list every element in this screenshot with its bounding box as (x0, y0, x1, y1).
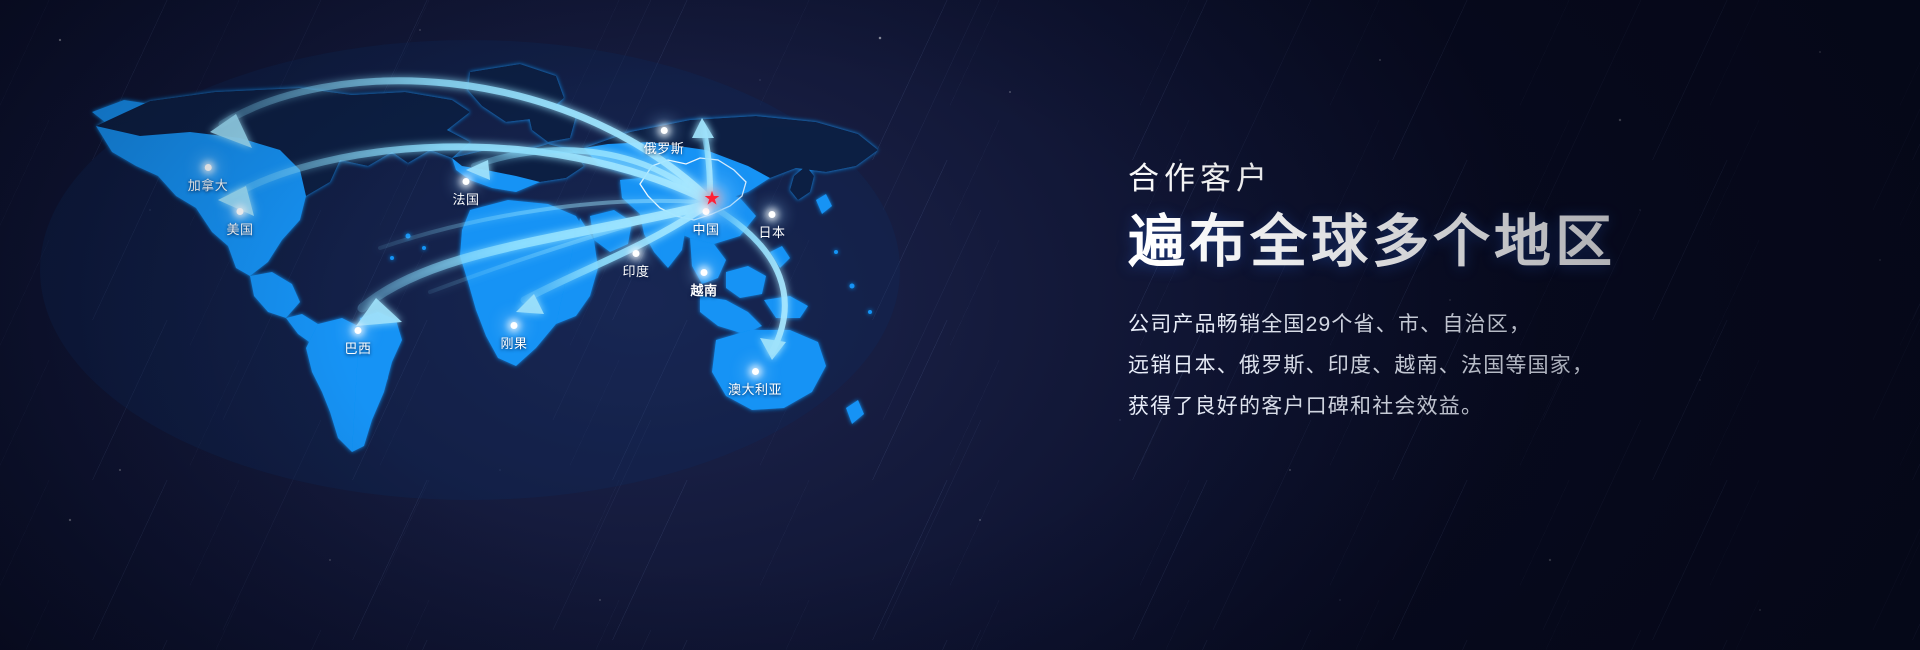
page-title: 遍布全球多个地区 (1128, 211, 1748, 275)
sub-title: 合作客户 (1128, 160, 1748, 197)
description-block: 公司产品畅销全国29个省、市、自治区， 远销日本、俄罗斯、印度、越南、法国等国家… (1128, 305, 1748, 428)
copy-block: 合作客户 遍布全球多个地区 公司产品畅销全国29个省、市、自治区， 远销日本、俄… (1128, 160, 1748, 428)
global-clients-banner: 加拿大 美国 巴西 法国 俄罗斯 中国 日本 印度 (0, 0, 1920, 650)
description-line-2: 远销日本、俄罗斯、印度、越南、法国等国家， (1128, 346, 1748, 387)
description-line-3: 获得了良好的客户口碑和社会效益。 (1128, 387, 1748, 428)
description-line-1: 公司产品畅销全国29个省、市、自治区， (1128, 305, 1748, 346)
world-map-svg (0, 0, 1000, 650)
world-map: 加拿大 美国 巴西 法国 俄罗斯 中国 日本 印度 (0, 0, 1000, 650)
